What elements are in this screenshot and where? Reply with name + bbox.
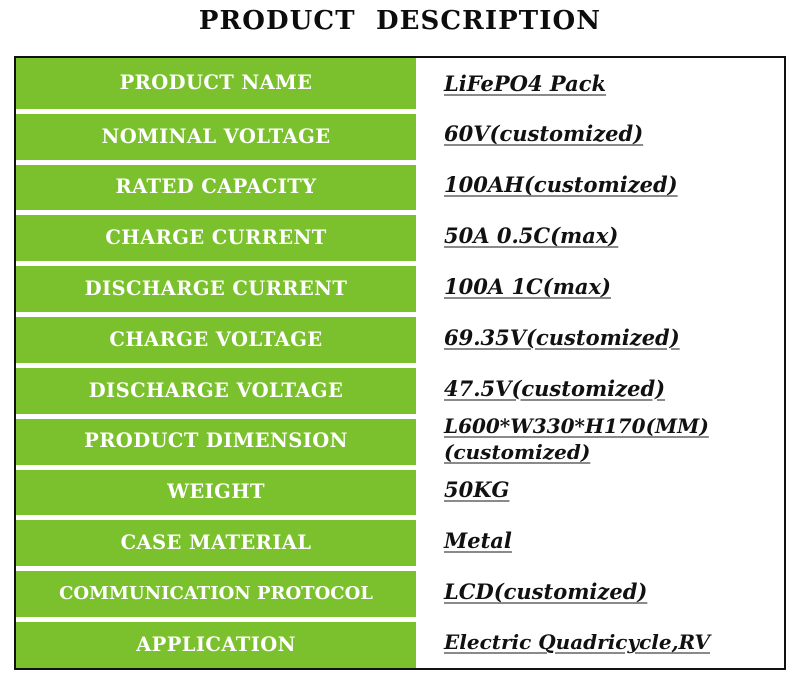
table-row: PRODUCT NAME LiFePO4 Pack bbox=[16, 58, 784, 109]
spec-value-line: 100AH(customized) bbox=[444, 172, 678, 198]
spec-label: PRODUCT DIMENSION bbox=[16, 414, 416, 465]
page-title: PRODUCT DESCRIPTION bbox=[0, 6, 800, 36]
table-row: NOMINAL VOLTAGE 60V(customized) bbox=[16, 109, 784, 160]
table-row: DISCHARGE VOLTAGE 47.5V(customized) bbox=[16, 363, 784, 414]
spec-value-line: 100A 1C(max) bbox=[444, 274, 611, 300]
spec-value: LiFePO4 Pack bbox=[416, 58, 784, 109]
specification-table: PRODUCT NAME LiFePO4 Pack NOMINAL VOLTAG… bbox=[14, 56, 786, 670]
spec-value-line: Metal bbox=[444, 528, 512, 554]
spec-value: 50KG bbox=[416, 465, 784, 516]
table-row: CASE MATERIAL Metal bbox=[16, 515, 784, 566]
spec-label: RATED CAPACITY bbox=[16, 160, 416, 211]
spec-value-line: L600*W330*H170(MM) bbox=[444, 414, 709, 438]
spec-value: 50A 0.5C(max) bbox=[416, 210, 784, 261]
table-row: PRODUCT DIMENSION L600*W330*H170(MM) (cu… bbox=[16, 414, 784, 465]
spec-value-line: Electric Quadricycle,RV bbox=[444, 630, 710, 654]
spec-value-line: 69.35V(customized) bbox=[444, 325, 680, 351]
spec-label: CASE MATERIAL bbox=[16, 515, 416, 566]
table-row: DISCHARGE CURRENT 100A 1C(max) bbox=[16, 261, 784, 312]
spec-value: 100AH(customized) bbox=[416, 160, 784, 211]
spec-value-line: (customized) bbox=[444, 440, 590, 464]
spec-value: L600*W330*H170(MM) (customized) bbox=[416, 414, 784, 465]
spec-value-line: 50KG bbox=[444, 477, 509, 503]
spec-value: Metal bbox=[416, 515, 784, 566]
spec-value-line: 50A 0.5C(max) bbox=[444, 223, 618, 249]
spec-value-line: LCD(customized) bbox=[444, 579, 647, 605]
table-row: CHARGE VOLTAGE 69.35V(customized) bbox=[16, 312, 784, 363]
spec-label: CHARGE CURRENT bbox=[16, 210, 416, 261]
spec-value-line: LiFePO4 Pack bbox=[444, 71, 606, 97]
spec-value: 100A 1C(max) bbox=[416, 261, 784, 312]
table-row: RATED CAPACITY 100AH(customized) bbox=[16, 160, 784, 211]
spec-value: 69.35V(customized) bbox=[416, 312, 784, 363]
table-row: WEIGHT 50KG bbox=[16, 465, 784, 516]
spec-label: WEIGHT bbox=[16, 465, 416, 516]
spec-value: LCD(customized) bbox=[416, 566, 784, 617]
spec-label: CHARGE VOLTAGE bbox=[16, 312, 416, 363]
spec-label: COMMUNICATION PROTOCOL bbox=[16, 566, 416, 617]
table-row: CHARGE CURRENT 50A 0.5C(max) bbox=[16, 210, 784, 261]
spec-value-line: 47.5V(customized) bbox=[444, 376, 665, 402]
spec-label: APPLICATION bbox=[16, 617, 416, 668]
spec-value: 60V(customized) bbox=[416, 109, 784, 160]
table-row: COMMUNICATION PROTOCOL LCD(customized) bbox=[16, 566, 784, 617]
spec-value: Electric Quadricycle,RV bbox=[416, 617, 784, 668]
table-row: APPLICATION Electric Quadricycle,RV bbox=[16, 617, 784, 668]
spec-label: NOMINAL VOLTAGE bbox=[16, 109, 416, 160]
spec-label: DISCHARGE CURRENT bbox=[16, 261, 416, 312]
spec-value: 47.5V(customized) bbox=[416, 363, 784, 414]
product-description-page: PRODUCT DESCRIPTION PRODUCT NAME LiFePO4… bbox=[0, 0, 800, 689]
spec-value-line: 60V(customized) bbox=[444, 121, 643, 147]
spec-label: DISCHARGE VOLTAGE bbox=[16, 363, 416, 414]
spec-label: PRODUCT NAME bbox=[16, 58, 416, 109]
